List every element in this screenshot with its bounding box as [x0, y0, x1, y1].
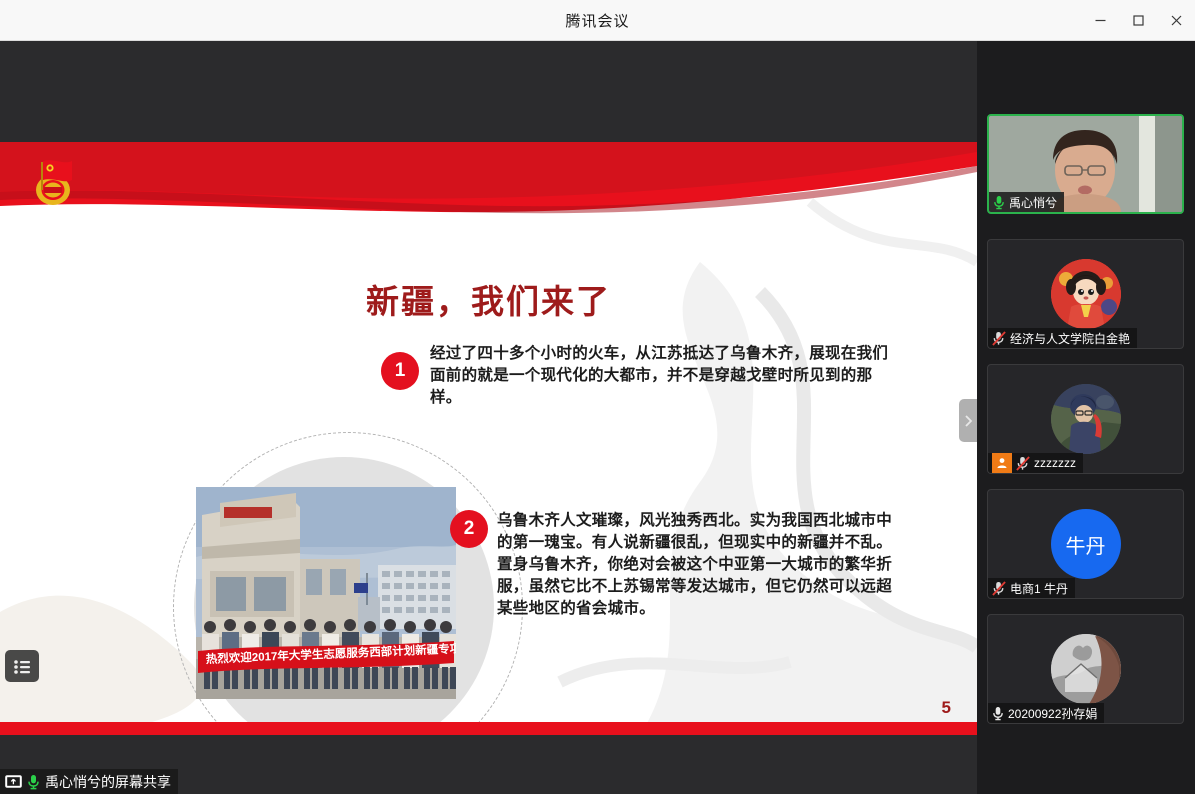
microphone-muted-icon [992, 581, 1006, 596]
title-bar: 腾讯会议 [0, 0, 1195, 41]
maximize-button[interactable] [1119, 0, 1157, 41]
close-button[interactable] [1157, 0, 1195, 41]
bullet-marker-2: 2 [450, 510, 488, 548]
participant-name-5: 20200922孙存娟 [1008, 705, 1097, 722]
window-controls [1081, 0, 1195, 41]
bullet-text-2: 乌鲁木齐人文璀璨，风光独秀西北。实为我国西北城市中的第一瑰宝。有人说新疆很乱，但… [497, 510, 907, 620]
microphone-active-icon [27, 774, 40, 790]
microphone-active-icon [993, 195, 1005, 210]
slide-header-banner [0, 142, 977, 220]
participant-tile-1[interactable]: 禹心悄兮 [987, 114, 1184, 214]
participant-nameplate-5: 20200922孙存娟 [988, 703, 1104, 723]
participant-name-3: zzzzzzz [1034, 456, 1076, 470]
microphone-idle-icon [992, 706, 1004, 721]
screen-share-icon [5, 775, 22, 789]
microphone-muted-icon [992, 331, 1006, 346]
screen-share-status-bar: 禹心悄兮的屏幕共享 [0, 769, 178, 794]
screen-share-label: 禹心悄兮的屏幕共享 [45, 772, 171, 792]
avatar-initials: 牛丹 [1051, 509, 1121, 579]
slide-footer-bar [0, 722, 977, 735]
participant-tile-4[interactable]: 牛丹 电商1 牛丹 [987, 489, 1184, 599]
avatar [1051, 259, 1121, 329]
minimize-button[interactable] [1081, 0, 1119, 41]
participant-tile-3[interactable]: zzzzzzz [987, 364, 1184, 474]
slide-page-number: 5 [942, 698, 951, 718]
communist-youth-league-emblem [24, 156, 82, 208]
avatar [1051, 634, 1121, 704]
participant-nameplate-2: 经济与人文学院白金艳 [988, 328, 1137, 348]
microphone-muted-icon [1016, 456, 1030, 471]
panel-collapse-handle[interactable] [959, 399, 977, 442]
shared-screen-stage[interactable]: 新疆，我们来了 [0, 41, 977, 794]
participant-nameplate-3: zzzzzzz [988, 453, 1083, 473]
list-menu-button[interactable] [5, 650, 39, 682]
bullet-marker-1: 1 [381, 352, 419, 390]
bullet-text-1: 经过了四十多个小时的火车，从江苏抵达了乌鲁木齐，展现在我们面前的就是一个现代化的… [430, 343, 902, 409]
chevron-right-icon [964, 414, 973, 428]
participant-name-4: 电商1 牛丹 [1010, 580, 1068, 597]
host-badge [992, 453, 1012, 473]
participant-rail[interactable]: 禹心悄兮 [977, 41, 1195, 794]
group-photo: 热烈欢迎2017年大学生志愿服务西部计划新疆专项志愿者 [196, 487, 456, 699]
participant-name-2: 经济与人文学院白金艳 [1010, 330, 1130, 347]
participant-tile-5[interactable]: 20200922孙存娟 [987, 614, 1184, 724]
avatar [1051, 384, 1121, 454]
participant-name-1: 禹心悄兮 [1009, 194, 1057, 211]
host-person-icon [996, 457, 1008, 469]
participant-nameplate-1: 禹心悄兮 [989, 192, 1064, 212]
window-title: 腾讯会议 [565, 10, 629, 31]
participant-nameplate-4: 电商1 牛丹 [988, 578, 1075, 598]
slide-title: 新疆，我们来了 [0, 275, 977, 323]
participant-tile-2[interactable]: 经济与人文学院白金艳 [987, 239, 1184, 349]
list-menu-icon [13, 659, 32, 674]
presentation-slide: 新疆，我们来了 [0, 142, 977, 735]
